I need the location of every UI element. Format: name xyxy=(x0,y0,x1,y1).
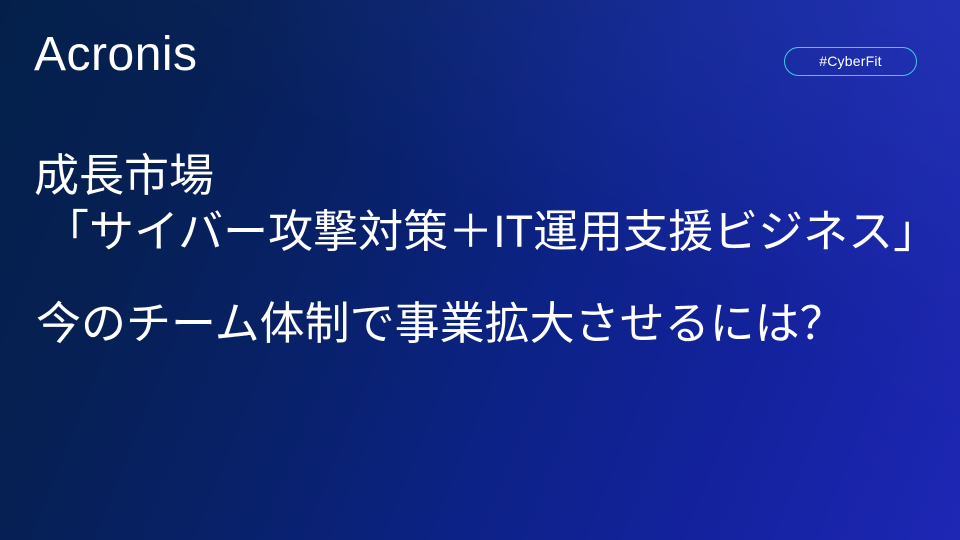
cyberfit-badge: #CyberFit xyxy=(784,47,917,76)
headline-line-2: 「サイバー攻撃対策＋IT運用支援ビジネス」 xyxy=(0,204,960,260)
acronis-logo: Acronis xyxy=(34,31,198,79)
presentation-slide: Acronis #CyberFit 成長市場 「サイバー攻撃対策＋IT運用支援ビ… xyxy=(0,0,960,540)
headline-block: 成長市場 「サイバー攻撃対策＋IT運用支援ビジネス」 今のチーム体制で事業拡大さ… xyxy=(0,148,960,352)
headline-line-3: 今のチーム体制で事業拡大させるには？ xyxy=(0,296,960,352)
headline-line-1: 成長市場 xyxy=(0,148,960,204)
headline-spacer xyxy=(0,260,960,296)
